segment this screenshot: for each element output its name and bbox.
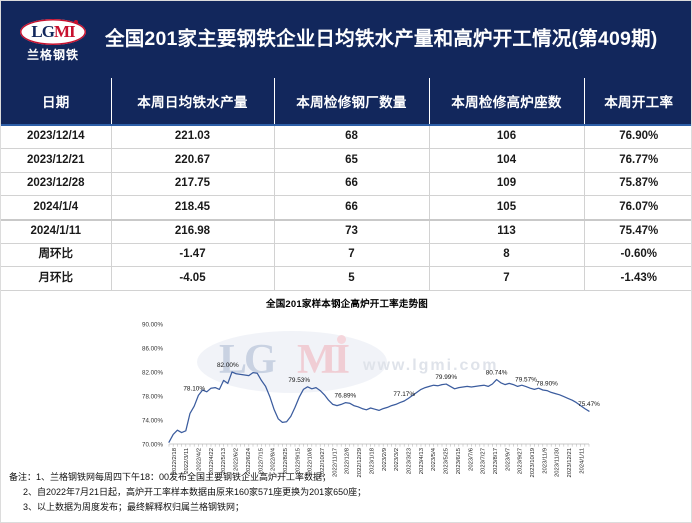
chart-data-label: 79.99% bbox=[435, 374, 457, 381]
summary-row-week: 周环比 -1.47 7 8 -0.60% bbox=[1, 243, 692, 266]
summary-row-month: 月环比 -4.05 5 7 -1.43% bbox=[1, 267, 692, 290]
logo-lg-text: LG bbox=[31, 23, 54, 40]
note-item-2: 2、自2022年7月21日起，高炉开工率样本数据由原来160家571座更换为20… bbox=[23, 487, 366, 497]
chart-data-label: 78.90% bbox=[536, 380, 558, 387]
cell-plants: 66 bbox=[274, 172, 429, 195]
cell-plants: 66 bbox=[274, 196, 429, 220]
note-line-3: 3、以上数据为周度发布；最终解释权归属兰格钢铁网； bbox=[9, 500, 683, 515]
column-header-output: 本周日均铁水产量 bbox=[111, 78, 274, 125]
cell-output: -4.05 bbox=[111, 267, 274, 290]
table-row: 2023/12/28 217.75 66 109 75.87% bbox=[1, 172, 692, 195]
note-item-3: 3、以上数据为周度发布；最终解释权归属兰格钢铁网； bbox=[23, 502, 244, 512]
column-header-date: 日期 bbox=[1, 78, 111, 125]
logo-mi-text: MI bbox=[54, 23, 75, 40]
cell-label: 周环比 bbox=[1, 243, 111, 266]
cell-output: 218.45 bbox=[111, 196, 274, 220]
cell-date: 2023/12/21 bbox=[1, 149, 111, 172]
cell-furnaces: 113 bbox=[429, 220, 584, 244]
chart-data-label: 79.53% bbox=[288, 377, 310, 384]
note-item-1: 1、兰格钢铁网每周四下午18：00发布全国主要钢铁企业高炉开工率数据； bbox=[36, 472, 331, 482]
column-header-rate: 本周开工率 bbox=[584, 78, 692, 125]
cell-label: 月环比 bbox=[1, 267, 111, 290]
table-body: 2023/12/14 221.03 68 106 76.90% 2023/12/… bbox=[1, 125, 692, 290]
cell-rate: 75.47% bbox=[584, 220, 692, 244]
table-row: 2023/12/21 220.67 65 104 76.77% bbox=[1, 149, 692, 172]
chart-data-label: 80.74% bbox=[486, 369, 508, 376]
chart-data-label: 78.10% bbox=[183, 385, 205, 392]
table-row: 2023/12/14 221.03 68 106 76.90% bbox=[1, 125, 692, 149]
y-axis-tick-label: 90.00% bbox=[142, 321, 163, 328]
y-axis-tick-label: 86.00% bbox=[142, 345, 163, 352]
cell-rate: 75.87% bbox=[584, 172, 692, 195]
cell-output: -1.47 bbox=[111, 243, 274, 266]
cell-furnaces: 104 bbox=[429, 149, 584, 172]
cell-output: 220.67 bbox=[111, 149, 274, 172]
cell-rate: 76.07% bbox=[584, 196, 692, 220]
cell-furnaces: 7 bbox=[429, 267, 584, 290]
y-axis-tick-label: 74.00% bbox=[142, 417, 163, 424]
chart-data-label: 75.47% bbox=[578, 401, 600, 408]
y-axis-tick-label: 78.00% bbox=[142, 393, 163, 400]
table-header-row: 日期 本周日均铁水产量 本周检修钢厂数量 本周检修高炉座数 本周开工率 bbox=[1, 78, 692, 125]
cell-output: 217.75 bbox=[111, 172, 274, 195]
lgmi-logo: LGMI 兰格钢铁 bbox=[1, 1, 105, 78]
page-root: LGMI 兰格钢铁 全国201家主要钢铁企业日均铁水产量和高炉开工情况(第409… bbox=[0, 0, 692, 523]
chart-data-label: 76.89% bbox=[335, 392, 357, 399]
cell-output: 216.98 bbox=[111, 220, 274, 244]
footer-notes: 备注：1、兰格钢铁网每周四下午18：00发布全国主要钢铁企业高炉开工率数据； 2… bbox=[1, 464, 691, 522]
logo-chinese-text: 兰格钢铁 bbox=[27, 49, 79, 61]
cell-furnaces: 106 bbox=[429, 125, 584, 149]
cell-plants: 7 bbox=[274, 243, 429, 266]
cell-furnaces: 109 bbox=[429, 172, 584, 195]
cell-rate: -1.43% bbox=[584, 267, 692, 290]
cell-plants: 65 bbox=[274, 149, 429, 172]
table-row: 2024/1/4 218.45 66 105 76.07% bbox=[1, 196, 692, 220]
chart-data-label: 79.57% bbox=[515, 376, 537, 383]
cell-plants: 73 bbox=[274, 220, 429, 244]
cell-date: 2023/12/14 bbox=[1, 125, 111, 149]
cell-furnaces: 105 bbox=[429, 196, 584, 220]
logo-dot-icon bbox=[74, 20, 78, 24]
y-axis-tick-label: 70.00% bbox=[142, 441, 163, 448]
steel-data-table: 日期 本周日均铁水产量 本周检修钢厂数量 本周检修高炉座数 本周开工率 2023… bbox=[1, 78, 692, 291]
cell-rate: -0.60% bbox=[584, 243, 692, 266]
logo-oval-icon: LGMI bbox=[20, 19, 86, 45]
y-axis-tick-label: 82.00% bbox=[142, 369, 163, 376]
note-line-2: 2、自2022年7月21日起，高炉开工率样本数据由原来160家571座更换为20… bbox=[9, 485, 683, 500]
note-line-1: 备注：1、兰格钢铁网每周四下午18：00发布全国主要钢铁企业高炉开工率数据； bbox=[9, 470, 683, 485]
chart-data-label: 82.00% bbox=[217, 362, 239, 369]
cell-rate: 76.77% bbox=[584, 149, 692, 172]
cell-plants: 68 bbox=[274, 125, 429, 149]
table-row: 2024/1/11 216.98 73 113 75.47% bbox=[1, 220, 692, 244]
cell-date: 2024/1/11 bbox=[1, 220, 111, 244]
page-title: 全国201家主要钢铁企业日均铁水产量和高炉开工情况(第409期) bbox=[105, 29, 692, 50]
notes-label: 备注： bbox=[9, 472, 36, 482]
cell-date: 2023/12/28 bbox=[1, 172, 111, 195]
header-banner: LGMI 兰格钢铁 全国201家主要钢铁企业日均铁水产量和高炉开工情况(第409… bbox=[1, 1, 691, 78]
chart-data-label: 77.17% bbox=[393, 391, 415, 398]
cell-rate: 76.90% bbox=[584, 125, 692, 149]
cell-furnaces: 8 bbox=[429, 243, 584, 266]
cell-plants: 5 bbox=[274, 267, 429, 290]
column-header-furnaces: 本周检修高炉座数 bbox=[429, 78, 584, 125]
column-header-plants: 本周检修钢厂数量 bbox=[274, 78, 429, 125]
cell-date: 2024/1/4 bbox=[1, 196, 111, 220]
cell-output: 221.03 bbox=[111, 125, 274, 149]
